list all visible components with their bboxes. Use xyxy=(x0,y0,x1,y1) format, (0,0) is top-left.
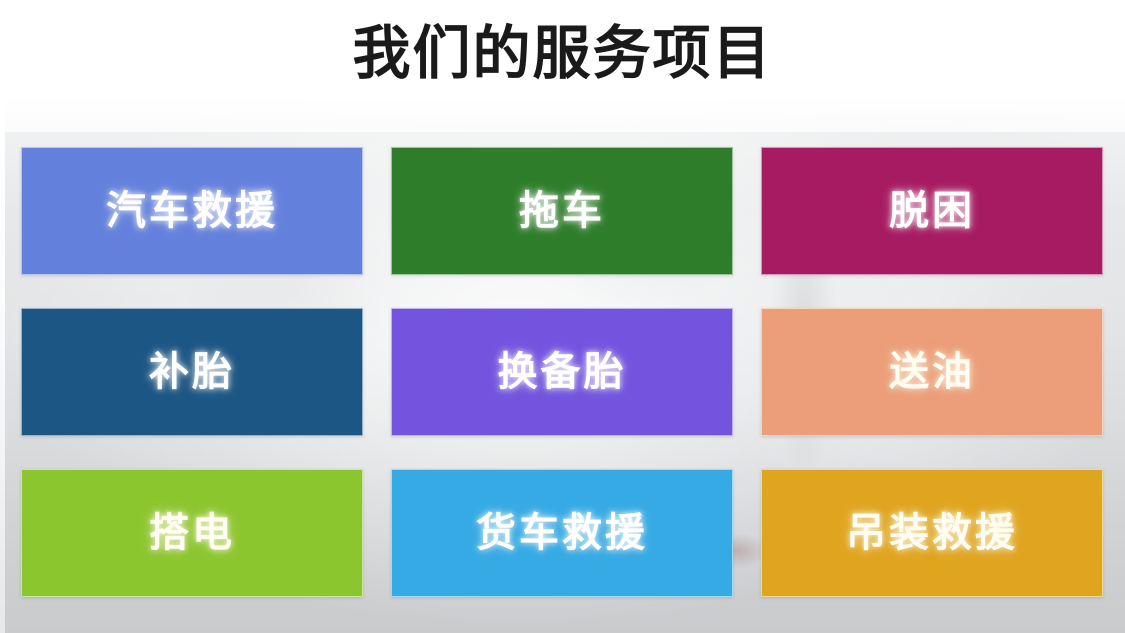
service-tile-2-2[interactable]: 吊装救援 xyxy=(761,469,1103,597)
service-tile-label: 搭电 xyxy=(149,513,235,553)
service-tile-1-1[interactable]: 换备胎 xyxy=(391,308,733,436)
left-edge-rule xyxy=(0,0,5,633)
service-tile-grid: 汽车救援 拖车 脱困 补胎 换备胎 送油 搭电 货车救援 吊装救援 xyxy=(21,147,1102,617)
top-edge-rule xyxy=(0,0,1125,4)
service-tile-label: 脱困 xyxy=(889,191,975,231)
service-tile-label: 拖车 xyxy=(519,191,605,231)
service-tile-label: 送油 xyxy=(889,352,975,392)
service-tile-1-0[interactable]: 补胎 xyxy=(21,308,363,436)
service-tile-0-1[interactable]: 拖车 xyxy=(391,147,733,275)
service-tile-0-2[interactable]: 脱困 xyxy=(761,147,1103,275)
service-tile-1-2[interactable]: 送油 xyxy=(761,308,1103,436)
service-tile-2-0[interactable]: 搭电 xyxy=(21,469,363,597)
service-tile-label: 吊装救援 xyxy=(846,513,1018,553)
service-tile-0-0[interactable]: 汽车救援 xyxy=(21,147,363,275)
service-tile-2-1[interactable]: 货车救援 xyxy=(391,469,733,597)
service-tile-label: 补胎 xyxy=(149,352,235,392)
service-tile-label: 换备胎 xyxy=(498,352,627,392)
page-title: 我们的服务项目 xyxy=(0,22,1125,87)
service-tile-label: 货车救援 xyxy=(476,513,648,553)
service-tile-label: 汽车救援 xyxy=(106,191,278,231)
service-poster: 我们的服务项目 汽车救援 拖车 脱困 补胎 换备胎 送油 搭电 货车救援 吊装救… xyxy=(0,0,1125,633)
